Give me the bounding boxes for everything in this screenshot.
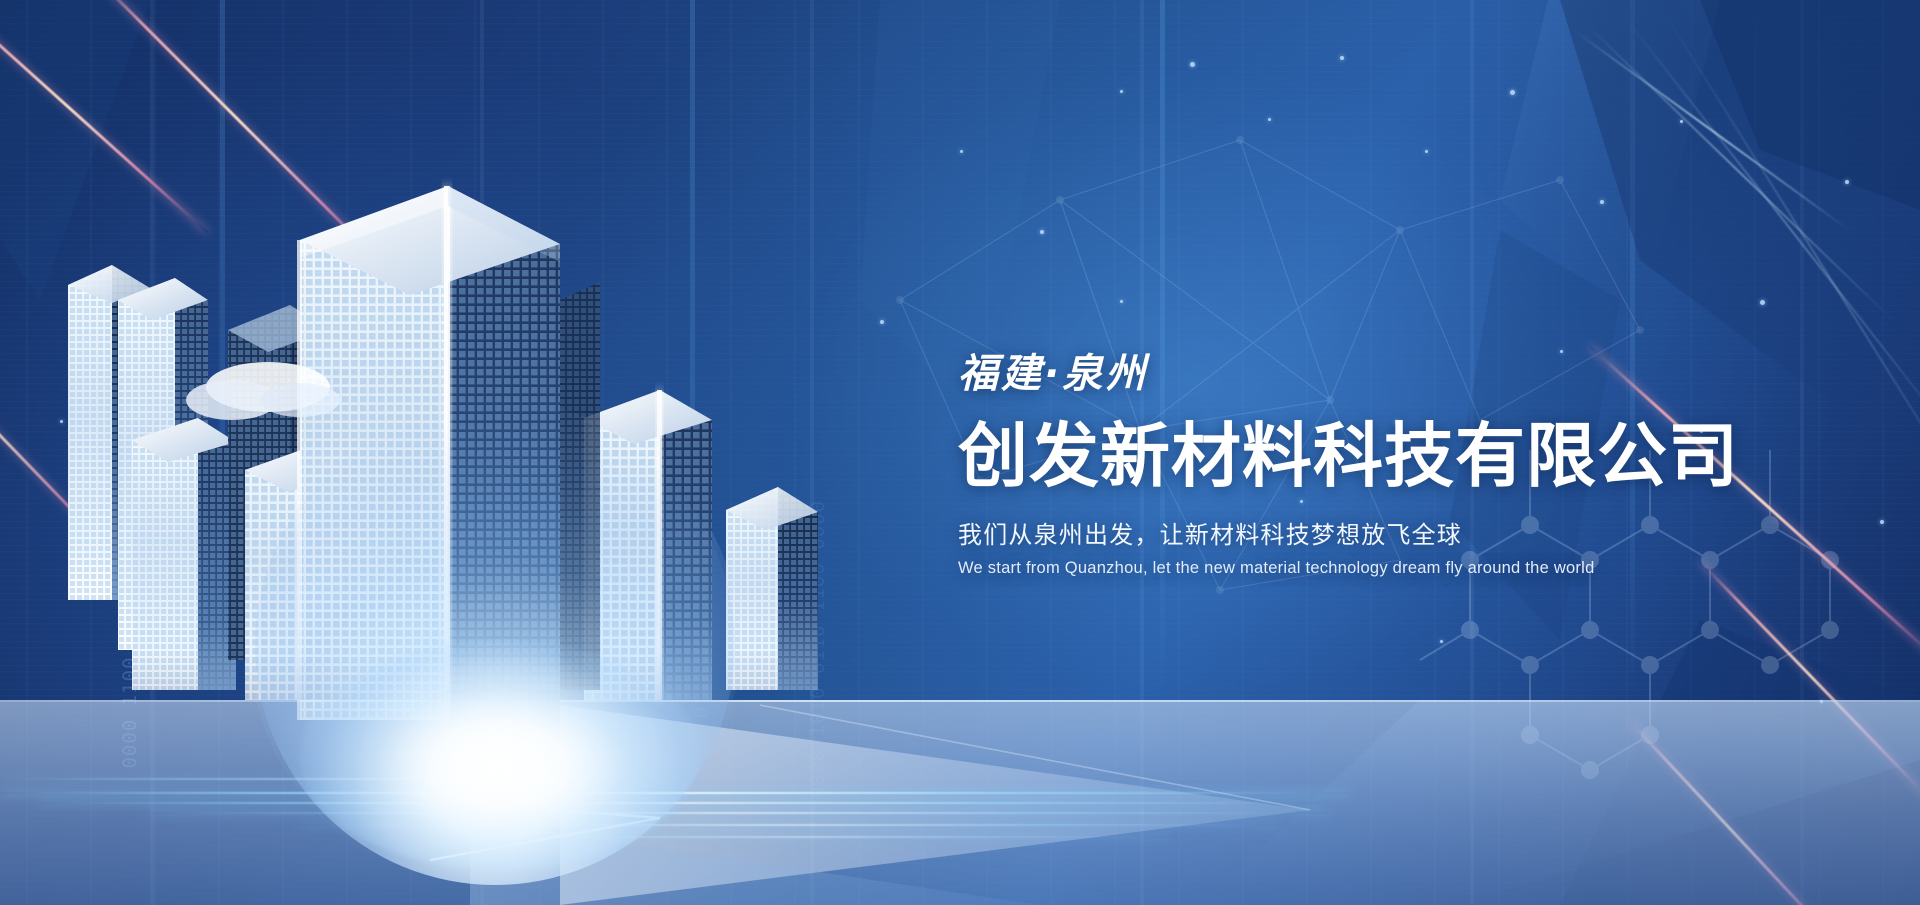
tagline-english: We start from Quanzhou, let the new mate… xyxy=(958,559,1738,578)
tagline-chinese: 我们从泉州出发，让新材料科技梦想放飞全球 xyxy=(958,515,1738,550)
location-eyebrow: 福建·泉州 xyxy=(958,352,1738,397)
company-banner: 0000 1100 0110 0000 1010 0110 0000 1100 … xyxy=(0,0,1920,905)
light-ray-2 xyxy=(1584,22,1895,322)
company-title: 创发新材料科技有限公司 xyxy=(958,417,1738,495)
glow-sphere-core xyxy=(300,640,700,870)
banner-text-block: 福建·泉州 创发新材料科技有限公司 我们从泉州出发，让新材料科技梦想放飞全球 W… xyxy=(958,352,1738,578)
